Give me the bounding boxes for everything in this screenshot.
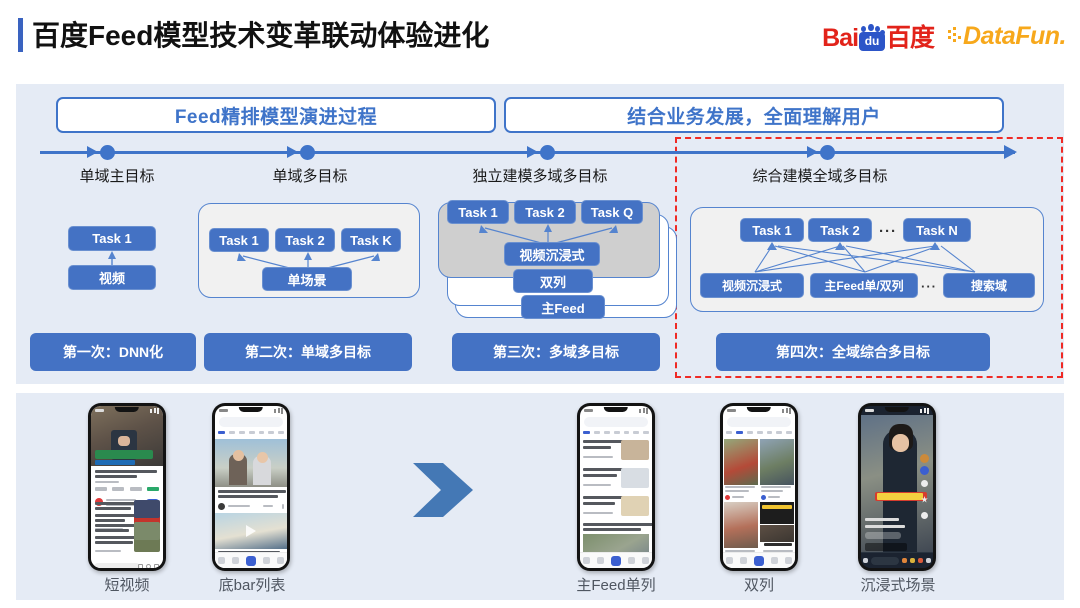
timeline-dot-3 — [540, 145, 555, 160]
timeline-label-2: 单域多目标 — [240, 165, 380, 186]
timeline-arrow-2 — [287, 146, 298, 158]
timeline-dot-4 — [820, 145, 835, 160]
stage4-source-search: 搜索域 — [943, 273, 1035, 298]
datafun-logo: DataFun. — [948, 22, 1066, 50]
stage2-task-3: Task K — [341, 228, 401, 252]
milestone-3: 第三次：多域多目标 — [452, 333, 660, 371]
stage4-task-ellipsis: ··· — [879, 223, 897, 240]
stage4-source-feed: 主Feed单/双列 — [810, 273, 918, 298]
stage4-source-ellipsis: ··· — [921, 279, 937, 294]
milestone-2: 第二次：单域多目标 — [204, 333, 412, 371]
timeline-arrow-1 — [87, 146, 98, 158]
stage3-source-dual: 双列 — [513, 269, 593, 293]
timeline-dot-2 — [300, 145, 315, 160]
timeline-label-3: 独立建模多域多目标 — [440, 165, 640, 186]
stage2-source-scene: 单场景 — [262, 267, 352, 291]
stage3-source-immersive: 视频沉浸式 — [504, 242, 600, 266]
stage3-task-1: Task 1 — [447, 200, 509, 224]
timeline-arrow-3 — [527, 146, 538, 158]
baidu-cn-text: 百度 — [886, 26, 934, 51]
stage3-task-3: Task Q — [581, 200, 643, 224]
datafun-text: DataFun. — [963, 24, 1066, 49]
timeline-arrow-4 — [807, 146, 818, 158]
phone-mockup-short-video — [88, 403, 166, 571]
logo-group: Bai du 百度 DataFun. — [822, 20, 1066, 52]
stage4-source-immersive: 视频沉浸式 — [700, 273, 804, 298]
stage4-task-2: Task 2 — [808, 218, 872, 242]
stage4-task-3: Task N — [903, 218, 971, 242]
baidu-paw-icon: du — [859, 25, 885, 51]
timeline-label-4: 综合建模全域多目标 — [720, 165, 920, 186]
phone-mockup-dual-column — [720, 403, 798, 571]
milestone-4: 第四次：全域综合多目标 — [716, 333, 990, 371]
stage4-task-1: Task 1 — [740, 218, 804, 242]
timeline-end-arrow — [1004, 145, 1017, 159]
phone-caption-bottom-bar: 底bar列表 — [198, 574, 306, 595]
stage2-task-1: Task 1 — [209, 228, 269, 252]
baidu-logo: Bai du 百度 — [822, 21, 934, 51]
stage1-source-video: 视频 — [68, 265, 156, 290]
stage1-task-1: Task 1 — [68, 226, 156, 251]
phone-mockup-main-feed-single — [577, 403, 655, 571]
datafun-dots-icon — [948, 27, 962, 45]
stage2-task-2: Task 2 — [275, 228, 335, 252]
phone-caption-main-feed-single: 主Feed单列 — [560, 574, 672, 595]
baidu-du-text: du — [859, 32, 885, 51]
timeline-dot-1 — [100, 145, 115, 160]
milestone-1: 第一次：DNN化 — [30, 333, 196, 371]
timeline — [40, 145, 1015, 161]
stage3-task-2: Task 2 — [514, 200, 576, 224]
section-header-right: 结合业务发展，全面理解用户 — [504, 97, 1004, 133]
timeline-label-1: 单域主目标 — [52, 165, 182, 186]
section-header-left: Feed精排模型演进过程 — [56, 97, 496, 133]
stage3-source-mainfeed: 主Feed — [521, 295, 605, 319]
phone-mockup-bottom-bar — [212, 403, 290, 571]
page-title: 百度Feed模型技术变革联动体验进化 — [32, 14, 489, 54]
baidu-latin-text: Bai — [822, 26, 858, 51]
phone-caption-immersive: 沉浸式场景 — [847, 574, 949, 595]
phone-caption-dual-column: 双列 — [715, 574, 803, 595]
phone-mockup-immersive — [858, 403, 936, 571]
phone-caption-short-video: 短视频 — [78, 574, 176, 595]
title-accent-bar — [18, 18, 23, 52]
flow-arrow-icon — [411, 461, 475, 519]
